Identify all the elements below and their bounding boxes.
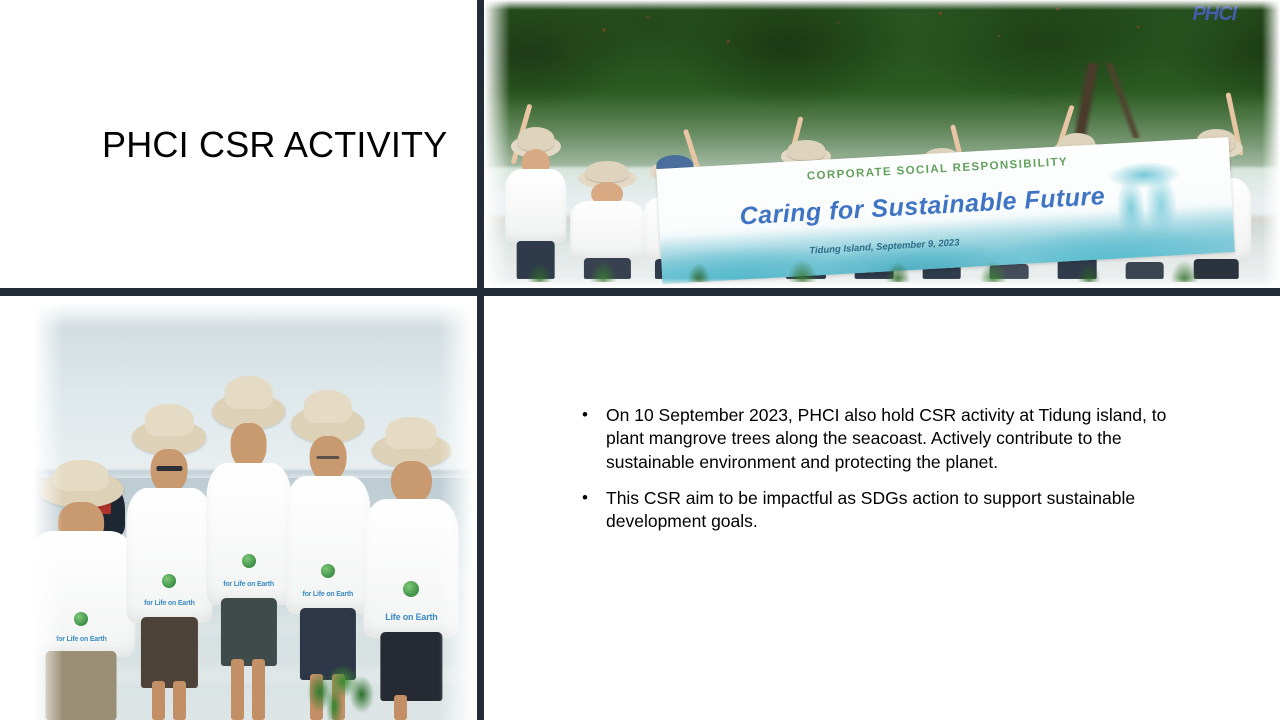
bullet-marker-icon: •	[582, 404, 588, 427]
csr-group-photo-content: CORPORATE SOCIAL RESPONSIBILITY Caring f…	[484, 0, 1280, 288]
csr-group-photo: CORPORATE SOCIAL RESPONSIBILITY Caring f…	[484, 0, 1280, 288]
photo-mangrove-seedlings	[484, 230, 1280, 282]
mangrove-planting-photo-content: for Life on Earth for Life on Earth	[33, 303, 473, 720]
tshirt-logo-tagline: for Life on Earth	[223, 581, 274, 588]
presentation-slide: PHCI CSR ACTIVITY	[0, 0, 1280, 720]
tshirt-logo-tagline: for Life on Earth	[144, 600, 195, 607]
tshirt-logo-tagline: for Life on Earth	[56, 636, 107, 643]
bullet-item: • This CSR aim to be impactful as SDGs a…	[570, 487, 1170, 534]
page-title: PHCI CSR ACTIVITY	[102, 124, 447, 165]
bullet-text: On 10 September 2023, PHCI also hold CSR…	[606, 405, 1166, 472]
photo-people-row: for Life on Earth for Life on Earth	[33, 353, 473, 720]
bullet-text: This CSR aim to be impactful as SDGs act…	[606, 488, 1135, 531]
phci-logo-watermark: PHCI	[1192, 3, 1236, 26]
mangrove-planting-photo: for Life on Earth for Life on Earth	[33, 303, 473, 720]
bullet-item: • On 10 September 2023, PHCI also hold C…	[570, 404, 1170, 474]
body-text-area: • On 10 September 2023, PHCI also hold C…	[570, 404, 1170, 533]
tshirt-logo-tagline: for Life on Earth	[302, 591, 353, 598]
photo-mangrove-seedling	[284, 653, 390, 720]
title-area: PHCI CSR ACTIVITY	[0, 0, 477, 288]
bullet-marker-icon: •	[582, 487, 588, 510]
vertical-divider	[477, 0, 484, 720]
tshirt-logo-text: Life on Earth	[385, 612, 437, 622]
horizontal-divider	[0, 288, 1280, 296]
